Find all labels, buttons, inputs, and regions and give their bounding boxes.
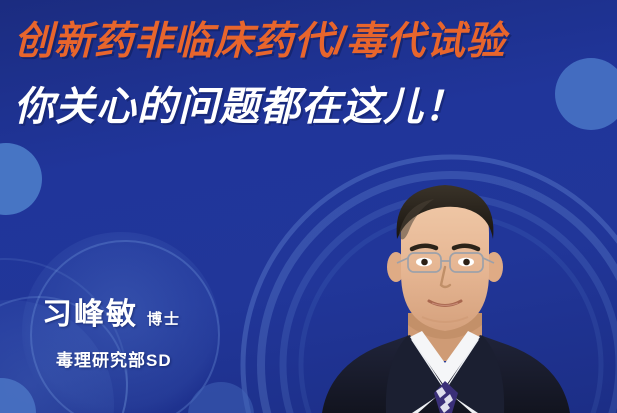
speaker-portrait-photo (300, 175, 590, 413)
speaker-department: 毒理研究部SD (34, 346, 274, 371)
circle-top-left-icon (0, 143, 42, 215)
circle-bottom-left-icon (0, 378, 36, 413)
headline-block: 创新药非临床药代/毒代试验 你关心的问题都在这儿！ (14, 16, 604, 134)
headline-line-2: 你关心的问题都在这儿！ (14, 80, 604, 134)
speaker-name: 习峰敏 (42, 300, 138, 330)
speaker-name-row: 习峰敏 博士 (34, 300, 274, 330)
promo-poster: 创新药非临床药代/毒代试验 你关心的问题都在这儿！ 习峰敏 博士 毒理研究部SD (0, 0, 617, 413)
speaker-degree: 博士 (147, 312, 181, 327)
headline-line-1: 创新药非临床药代/毒代试验 (14, 16, 604, 68)
speaker-info-block: 习峰敏 博士 毒理研究部SD (34, 300, 274, 371)
circle-bottom-middle-icon (188, 382, 254, 413)
